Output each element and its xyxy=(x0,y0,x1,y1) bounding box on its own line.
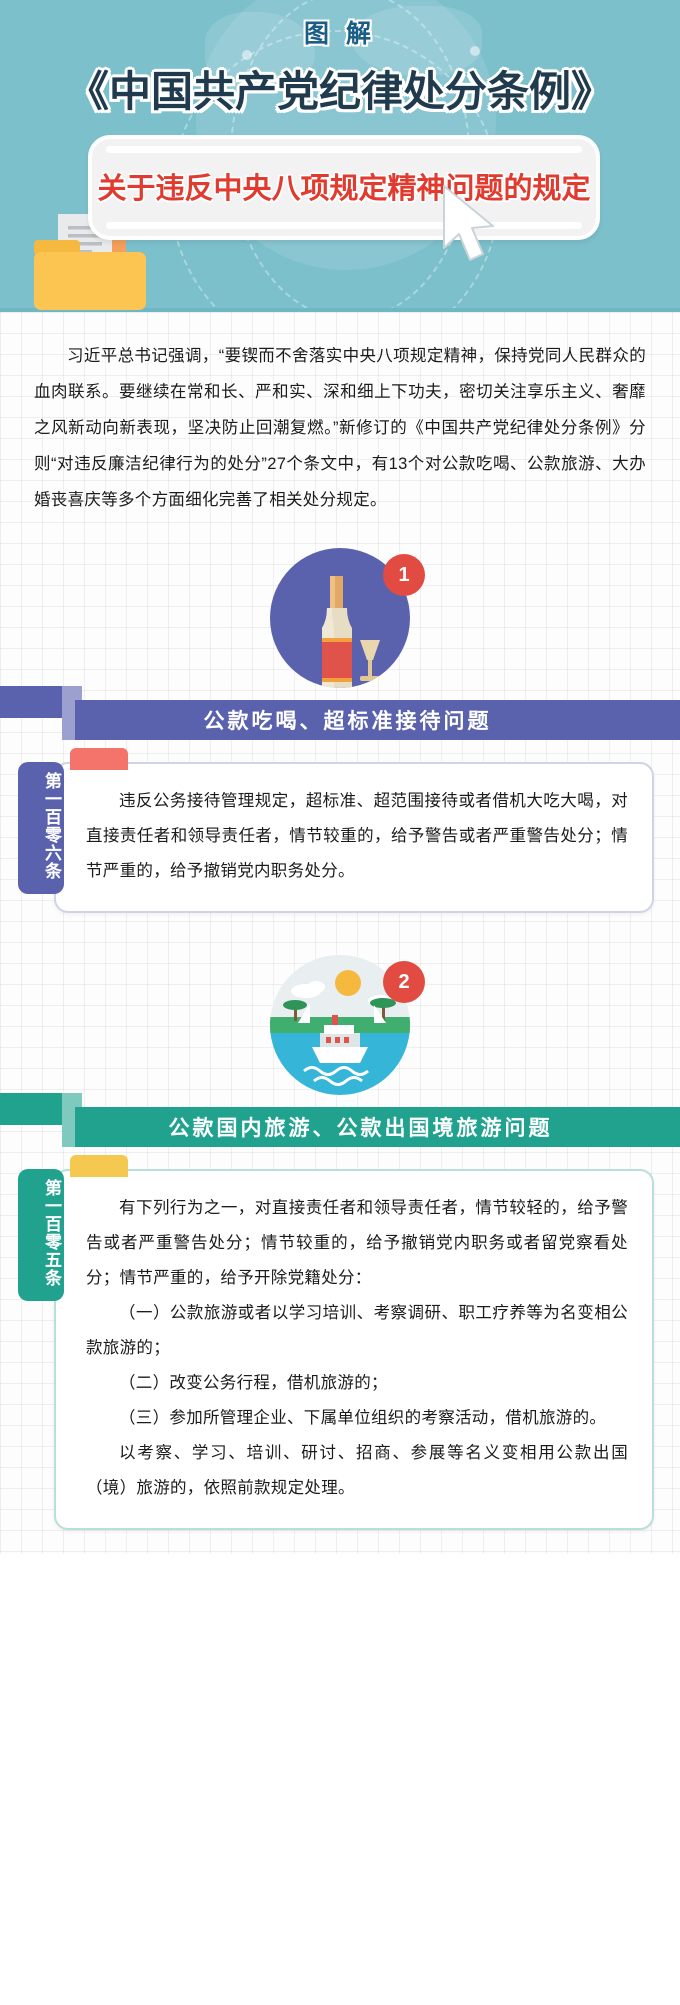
subtitle-plaque: 关于违反中央八项规定精神问题的规定 xyxy=(88,135,600,240)
article-paragraph: 以考察、学习、培训、研讨、招商、参展等名义变相用公款出国（境）旅游的，依照前款规… xyxy=(86,1436,628,1506)
hero-header: 图 解 《中国共产党纪律处分条例》 关于违反中央八项规定精神问题的规定 xyxy=(0,0,680,312)
article-paragraph: （三）参加所管理企业、下属单位组织的考察活动，借机旅游的。 xyxy=(86,1401,628,1436)
article-card: 有下列行为之一，对直接责任者和领导责任者，情节较轻的，给予警告或者严重警告处分；… xyxy=(54,1169,654,1530)
infographic-page: 图 解 《中国共产党纪律处分条例》 关于违反中央八项规定精神问题的规定 xyxy=(0,0,680,1554)
section-2-article-row: 第一百零五条 有下列行为之一，对直接责任者和领导责任者，情节较轻的，给予警告或者… xyxy=(0,1169,680,1530)
article-number-tab: 第一百零五条 xyxy=(18,1169,64,1301)
globe-dot xyxy=(470,46,480,56)
section-1-number-badge: 1 xyxy=(383,554,425,596)
ribbon-bar: 公款国内旅游、公款出国境旅游问题 xyxy=(75,1107,680,1147)
mouse-cursor-icon xyxy=(438,182,504,268)
ribbon-bar: 公款吃喝、超标准接待问题 xyxy=(75,700,680,740)
article-paragraph: （一）公款旅游或者以学习培训、考察调研、职工疗养等为名变相公款旅游的； xyxy=(86,1296,628,1366)
section-2-banner-title: 公款国内旅游、公款出国境旅游问题 xyxy=(169,1112,553,1142)
article-paragraph: 违反公务接待管理规定，超标准、超范围接待或者借机大吃大喝，对直接责任者和领导责任… xyxy=(86,784,628,889)
section-2-illustration-wrap: 2 xyxy=(0,947,680,1097)
section-1-banner: 公款吃喝、超标准接待问题 xyxy=(0,686,680,740)
article-body: 有下列行为之一，对直接责任者和领导责任者，情节较轻的，给予警告或者严重警告处分；… xyxy=(86,1191,628,1506)
ribbon-tail xyxy=(0,686,62,718)
ribbon-tail xyxy=(0,1093,62,1125)
section-2-number-badge: 2 xyxy=(383,961,425,1003)
page-title: 《中国共产党纪律处分条例》 xyxy=(0,58,680,119)
section-1-banner-title: 公款吃喝、超标准接待问题 xyxy=(204,705,492,735)
article-paragraph: （二）改变公务行程，借机旅游的； xyxy=(86,1366,628,1401)
card-chip xyxy=(70,748,128,770)
article-number-tab: 第一百零六条 xyxy=(18,762,64,894)
page-subtitle: 关于违反中央八项规定精神问题的规定 xyxy=(92,165,596,207)
article-body: 违反公务接待管理规定，超标准、超范围接待或者借机大吃大喝，对直接责任者和领导责任… xyxy=(86,784,628,889)
section-1-illustration-wrap: 1 xyxy=(0,540,680,690)
article-paragraph: 有下列行为之一，对直接责任者和领导责任者，情节较轻的，给予警告或者严重警告处分；… xyxy=(86,1191,628,1296)
hero-badge-label: 图 解 xyxy=(304,14,376,50)
article-card: 违反公务接待管理规定，超标准、超范围接待或者借机大吃大喝，对直接责任者和领导责任… xyxy=(54,762,654,913)
card-chip xyxy=(70,1155,128,1177)
intro-paragraph: 习近平总书记强调，“要锲而不舍落实中央八项规定精神，保持党同人民群众的血肉联系。… xyxy=(0,312,680,528)
section-2-banner: 公款国内旅游、公款出国境旅游问题 xyxy=(0,1093,680,1147)
section-1-article-row: 第一百零六条 违反公务接待管理规定，超标准、超范围接待或者借机大吃大喝，对直接责… xyxy=(0,762,680,913)
content-area: 习近平总书记强调，“要锲而不舍落实中央八项规定精神，保持党同人民群众的血肉联系。… xyxy=(0,312,680,1554)
